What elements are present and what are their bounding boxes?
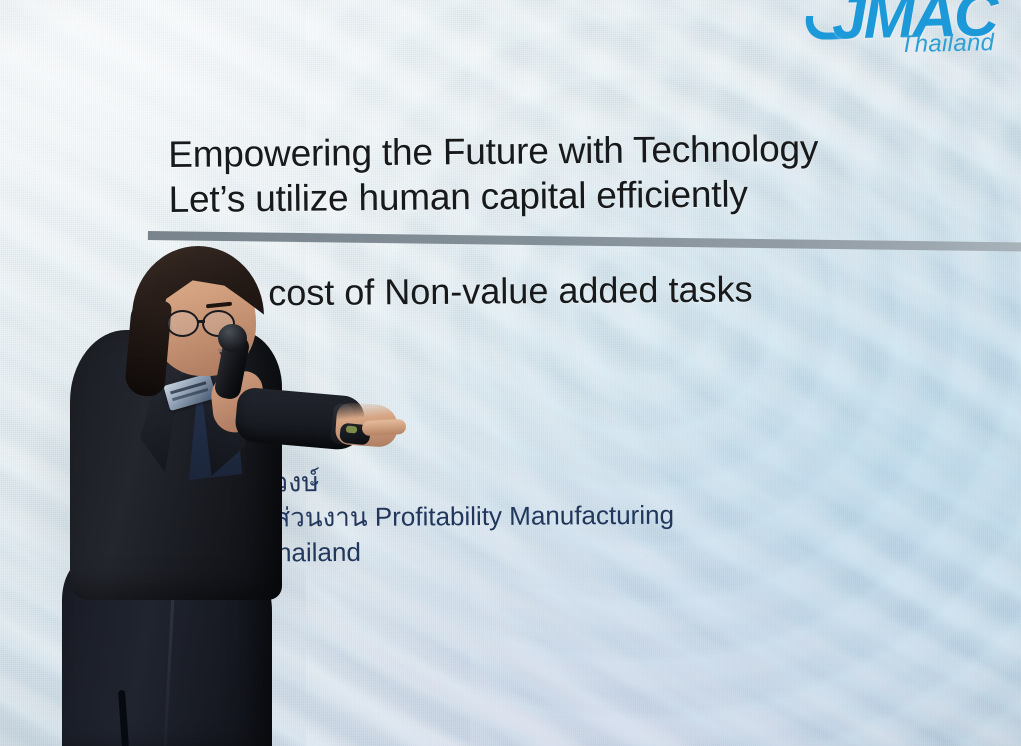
logo-subtitle: Thailand	[900, 31, 995, 57]
pointing-finger	[362, 419, 407, 436]
eyeglasses-left-lens	[166, 310, 199, 337]
speaker-hair-side	[124, 298, 172, 397]
presentation-photo: Empowering the Future with Technology Le…	[0, 0, 1021, 746]
speaker-figure	[0, 0, 430, 746]
eyeglasses-bridge	[198, 320, 205, 323]
presenter-remote-indicator	[346, 425, 358, 433]
jmac-logo: JMAC Thailand	[789, 0, 1001, 68]
